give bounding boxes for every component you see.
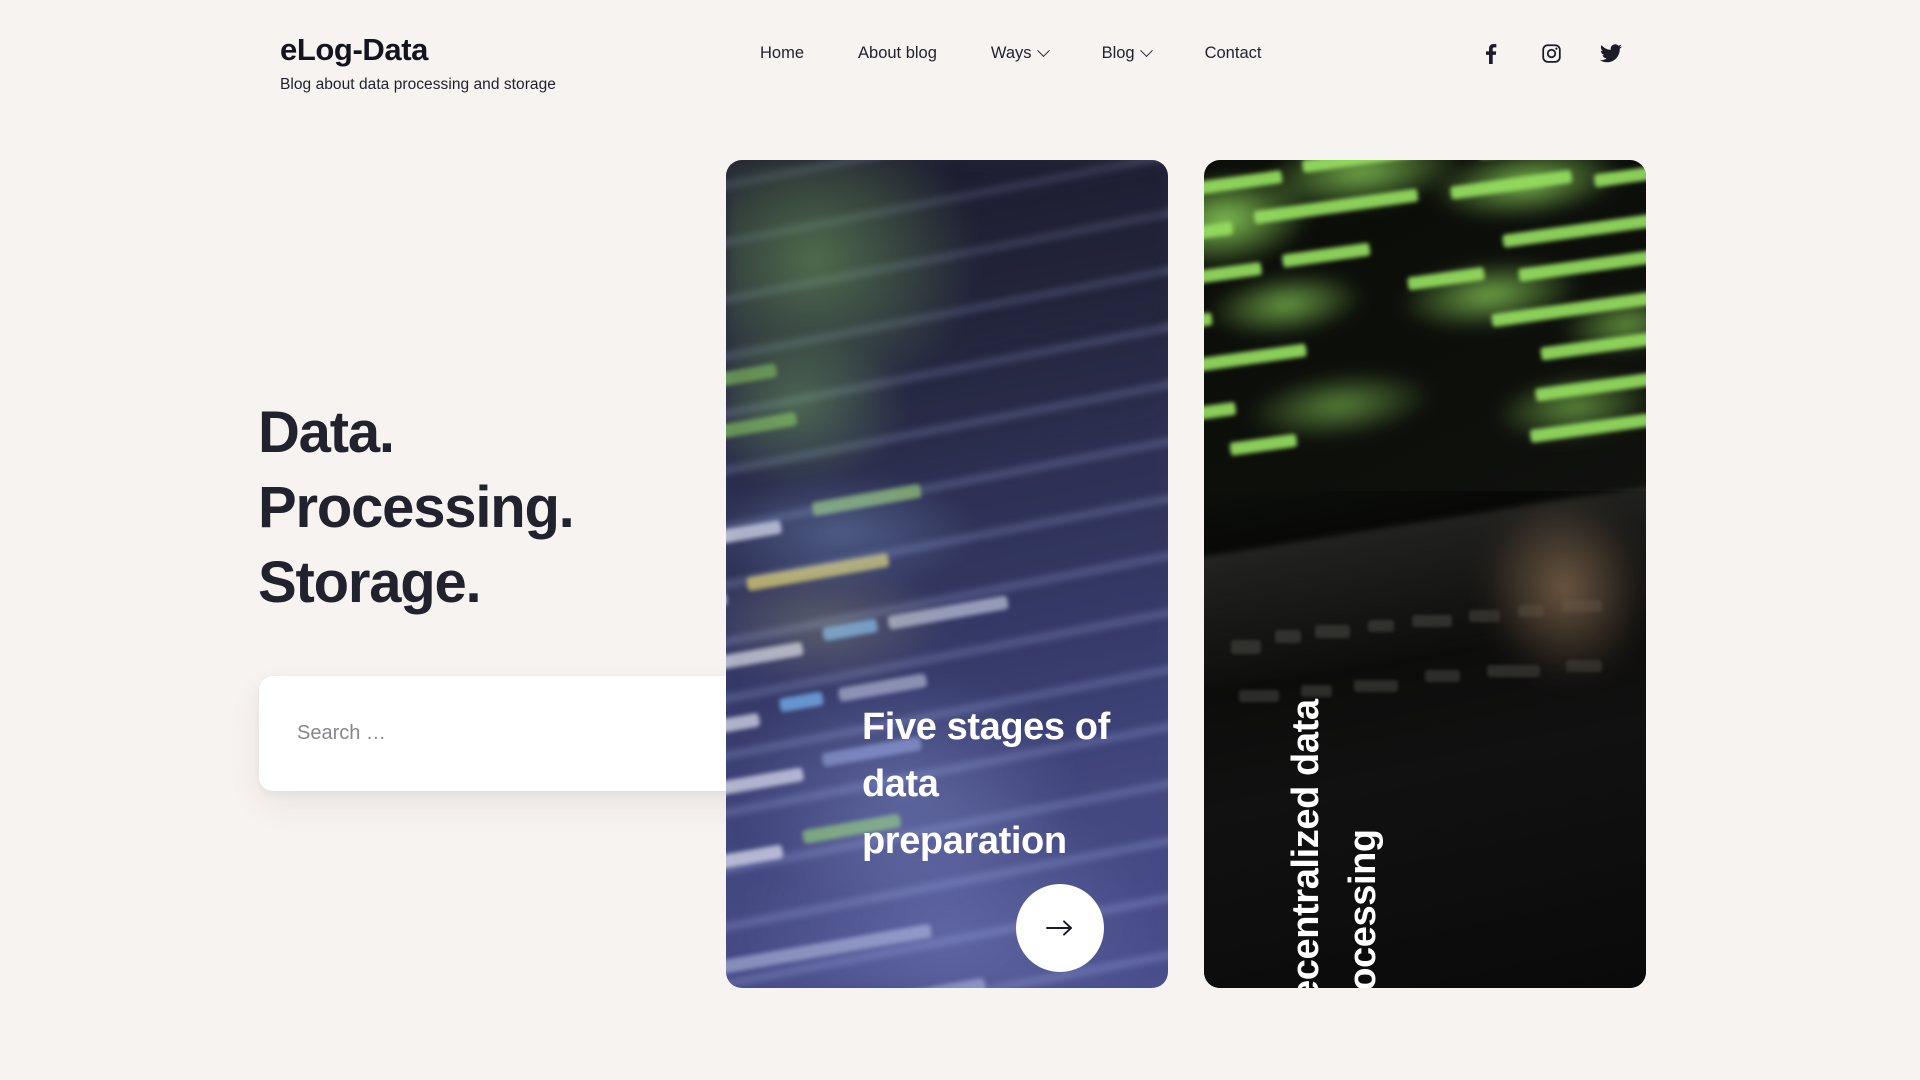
card-2-title-line-1: Decentralized data [1278, 268, 1335, 988]
card-1-content: Five stages of data preparation [862, 699, 1152, 870]
nav-item-home[interactable]: Home [760, 44, 831, 63]
nav-label: Ways [991, 44, 1032, 63]
card-2-content: Decentralized data processing [1204, 160, 1646, 988]
nav-label: Blog [1102, 44, 1135, 63]
instagram-icon[interactable] [1540, 42, 1562, 64]
search-input[interactable] [259, 676, 699, 791]
site-header: eLog-Data Blog about data processing and… [0, 0, 1920, 120]
nav-label: Home [760, 44, 804, 63]
chevron-down-icon [1037, 44, 1050, 57]
site-branding: eLog-Data Blog about data processing and… [280, 32, 700, 94]
featured-posts: Five stages of data preparation [726, 160, 1920, 990]
site-tagline: Blog about data processing and storage [280, 76, 700, 94]
card-1-title-line-1: Five stages [862, 706, 1065, 748]
card-2-title-line-2: processing [1335, 268, 1392, 988]
nav-item-contact[interactable]: Contact [1178, 44, 1289, 63]
nav-label: About blog [858, 44, 937, 63]
chevron-down-icon [1140, 44, 1153, 57]
social-links [1480, 42, 1622, 64]
nav-item-about-blog[interactable]: About blog [831, 44, 964, 63]
nav-item-ways[interactable]: Ways [964, 44, 1075, 63]
page-viewport: eLog-Data Blog about data processing and… [0, 0, 1920, 1080]
nav-label: Contact [1205, 44, 1262, 63]
site-title[interactable]: eLog-Data [280, 32, 700, 68]
card-2-title: Decentralized data processing [1278, 268, 1392, 988]
card-1-read-more-button[interactable] [1016, 884, 1104, 972]
twitter-icon[interactable] [1600, 42, 1622, 64]
card-1-title-line-3: preparation [862, 820, 1067, 862]
card-1-title: Five stages of data preparation [862, 699, 1152, 870]
featured-card-1[interactable]: Five stages of data preparation [726, 160, 1168, 988]
main-navigation: Home About blog Ways Blog Contact [760, 44, 1288, 63]
nav-item-blog[interactable]: Blog [1075, 44, 1178, 63]
featured-card-2[interactable]: Decentralized data processing [1204, 160, 1646, 988]
facebook-icon[interactable] [1480, 42, 1502, 64]
